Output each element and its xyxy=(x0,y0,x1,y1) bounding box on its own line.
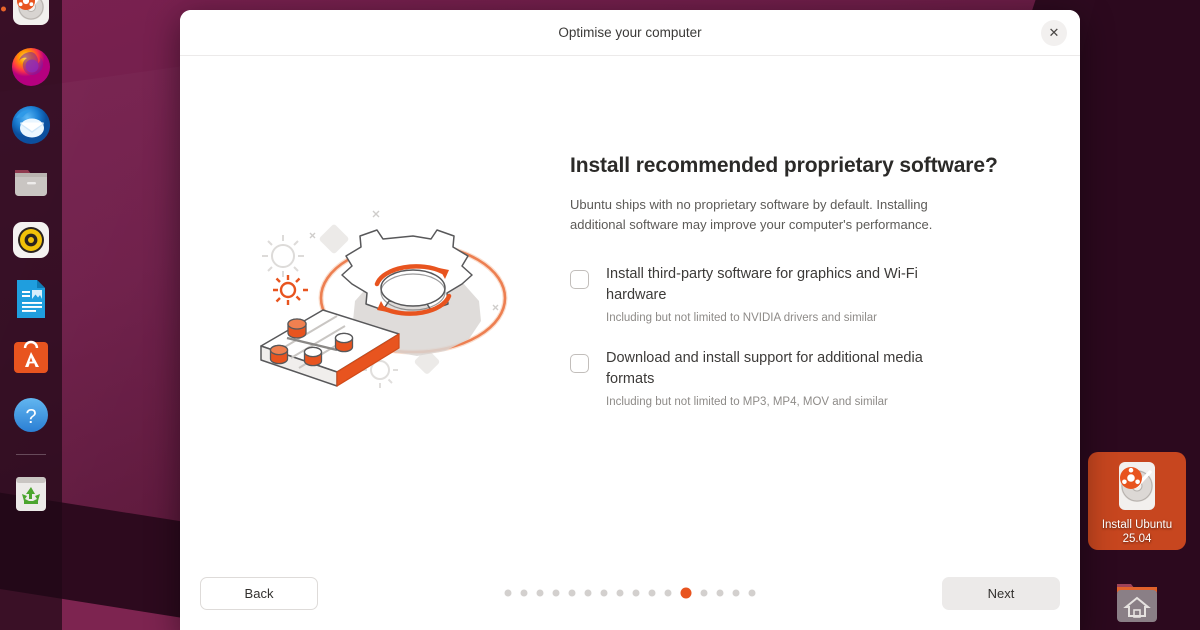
progress-dot xyxy=(601,590,608,597)
window-title: Optimise your computer xyxy=(558,25,701,40)
dock-item-firefox[interactable] xyxy=(8,44,54,90)
option-label-media-formats: Download and install support for additio… xyxy=(606,348,951,390)
option-row-media-formats[interactable]: Download and install support for additio… xyxy=(570,348,1032,410)
svg-text:?: ? xyxy=(25,406,36,428)
progress-dot xyxy=(633,590,640,597)
app-center-icon xyxy=(8,334,54,380)
progress-dot xyxy=(701,590,708,597)
progress-dot xyxy=(505,590,512,597)
progress-dot xyxy=(717,590,724,597)
installer-text-column: Install recommended proprietary software… xyxy=(570,154,1080,452)
option-label-third-party-software: Install third-party software for graphic… xyxy=(606,264,951,306)
dock-item-files[interactable] xyxy=(8,160,54,206)
gear-and-settings-panel-illustration xyxy=(225,188,525,418)
progress-dot xyxy=(617,590,624,597)
progress-dot xyxy=(569,590,576,597)
trash-recycle-icon xyxy=(8,471,54,517)
progress-dot xyxy=(733,590,740,597)
install-ubuntu-disk-icon xyxy=(1109,458,1165,514)
dock-separator xyxy=(16,454,46,455)
illustration-container xyxy=(180,188,570,418)
dock-item-libreoffice-writer[interactable] xyxy=(8,276,54,322)
progress-dots xyxy=(505,588,756,599)
desktop-icon-home-folder[interactable] xyxy=(1088,578,1186,630)
progress-dot xyxy=(537,590,544,597)
dock-item-app-center[interactable] xyxy=(8,334,54,380)
dock-item-rhythmbox[interactable] xyxy=(8,218,54,264)
running-indicator-dot xyxy=(1,7,6,12)
option-note-media-formats: Including but not limited to MP3, MP4, M… xyxy=(606,395,951,410)
dock-item-trash[interactable] xyxy=(8,471,54,517)
installer-window: Optimise your computer ✕ xyxy=(180,10,1080,630)
back-button[interactable]: Back xyxy=(200,577,318,610)
installer-content: Install recommended proprietary software… xyxy=(180,56,1080,550)
thunderbird-icon xyxy=(8,102,54,148)
desktop-icon-label-line2: 25.04 xyxy=(1102,533,1172,547)
next-button[interactable]: Next xyxy=(942,577,1060,610)
page-subtitle: Ubuntu ships with no proprietary softwar… xyxy=(570,195,965,234)
rhythmbox-speaker-icon xyxy=(8,218,54,264)
dock-item-ubuntu-installer-disk[interactable] xyxy=(8,0,54,32)
progress-dot xyxy=(665,590,672,597)
progress-dot xyxy=(553,590,560,597)
progress-dot xyxy=(521,590,528,597)
dock-item-help[interactable]: ? xyxy=(8,392,54,438)
help-question-icon: ? xyxy=(8,392,54,438)
progress-dot xyxy=(585,590,592,597)
installer-footer: Back Next xyxy=(180,550,1080,630)
progress-dot-active xyxy=(681,588,692,599)
ubuntu-dock[interactable]: ? xyxy=(0,0,62,630)
checkbox-media-formats[interactable] xyxy=(570,354,589,373)
firefox-icon xyxy=(8,44,54,90)
page-title: Install recommended proprietary software… xyxy=(570,154,1032,178)
progress-dot xyxy=(749,590,756,597)
progress-dot xyxy=(649,590,656,597)
option-note-third-party-software: Including but not limited to NVIDIA driv… xyxy=(606,311,951,326)
files-folder-icon xyxy=(8,160,54,206)
desktop-icon-label-line1: Install Ubuntu xyxy=(1102,519,1172,533)
libreoffice-writer-icon xyxy=(8,276,54,322)
ubuntu-installer-disk-icon xyxy=(8,0,54,32)
window-titlebar: Optimise your computer ✕ xyxy=(180,10,1080,56)
dock-item-thunderbird[interactable] xyxy=(8,102,54,148)
checkbox-third-party-software[interactable] xyxy=(570,270,589,289)
home-folder-icon xyxy=(1109,578,1165,630)
desktop-icon-install-ubuntu[interactable]: Install Ubuntu 25.04 xyxy=(1088,452,1186,550)
option-row-third-party-software[interactable]: Install third-party software for graphic… xyxy=(570,264,1032,326)
close-icon[interactable]: ✕ xyxy=(1041,20,1067,46)
